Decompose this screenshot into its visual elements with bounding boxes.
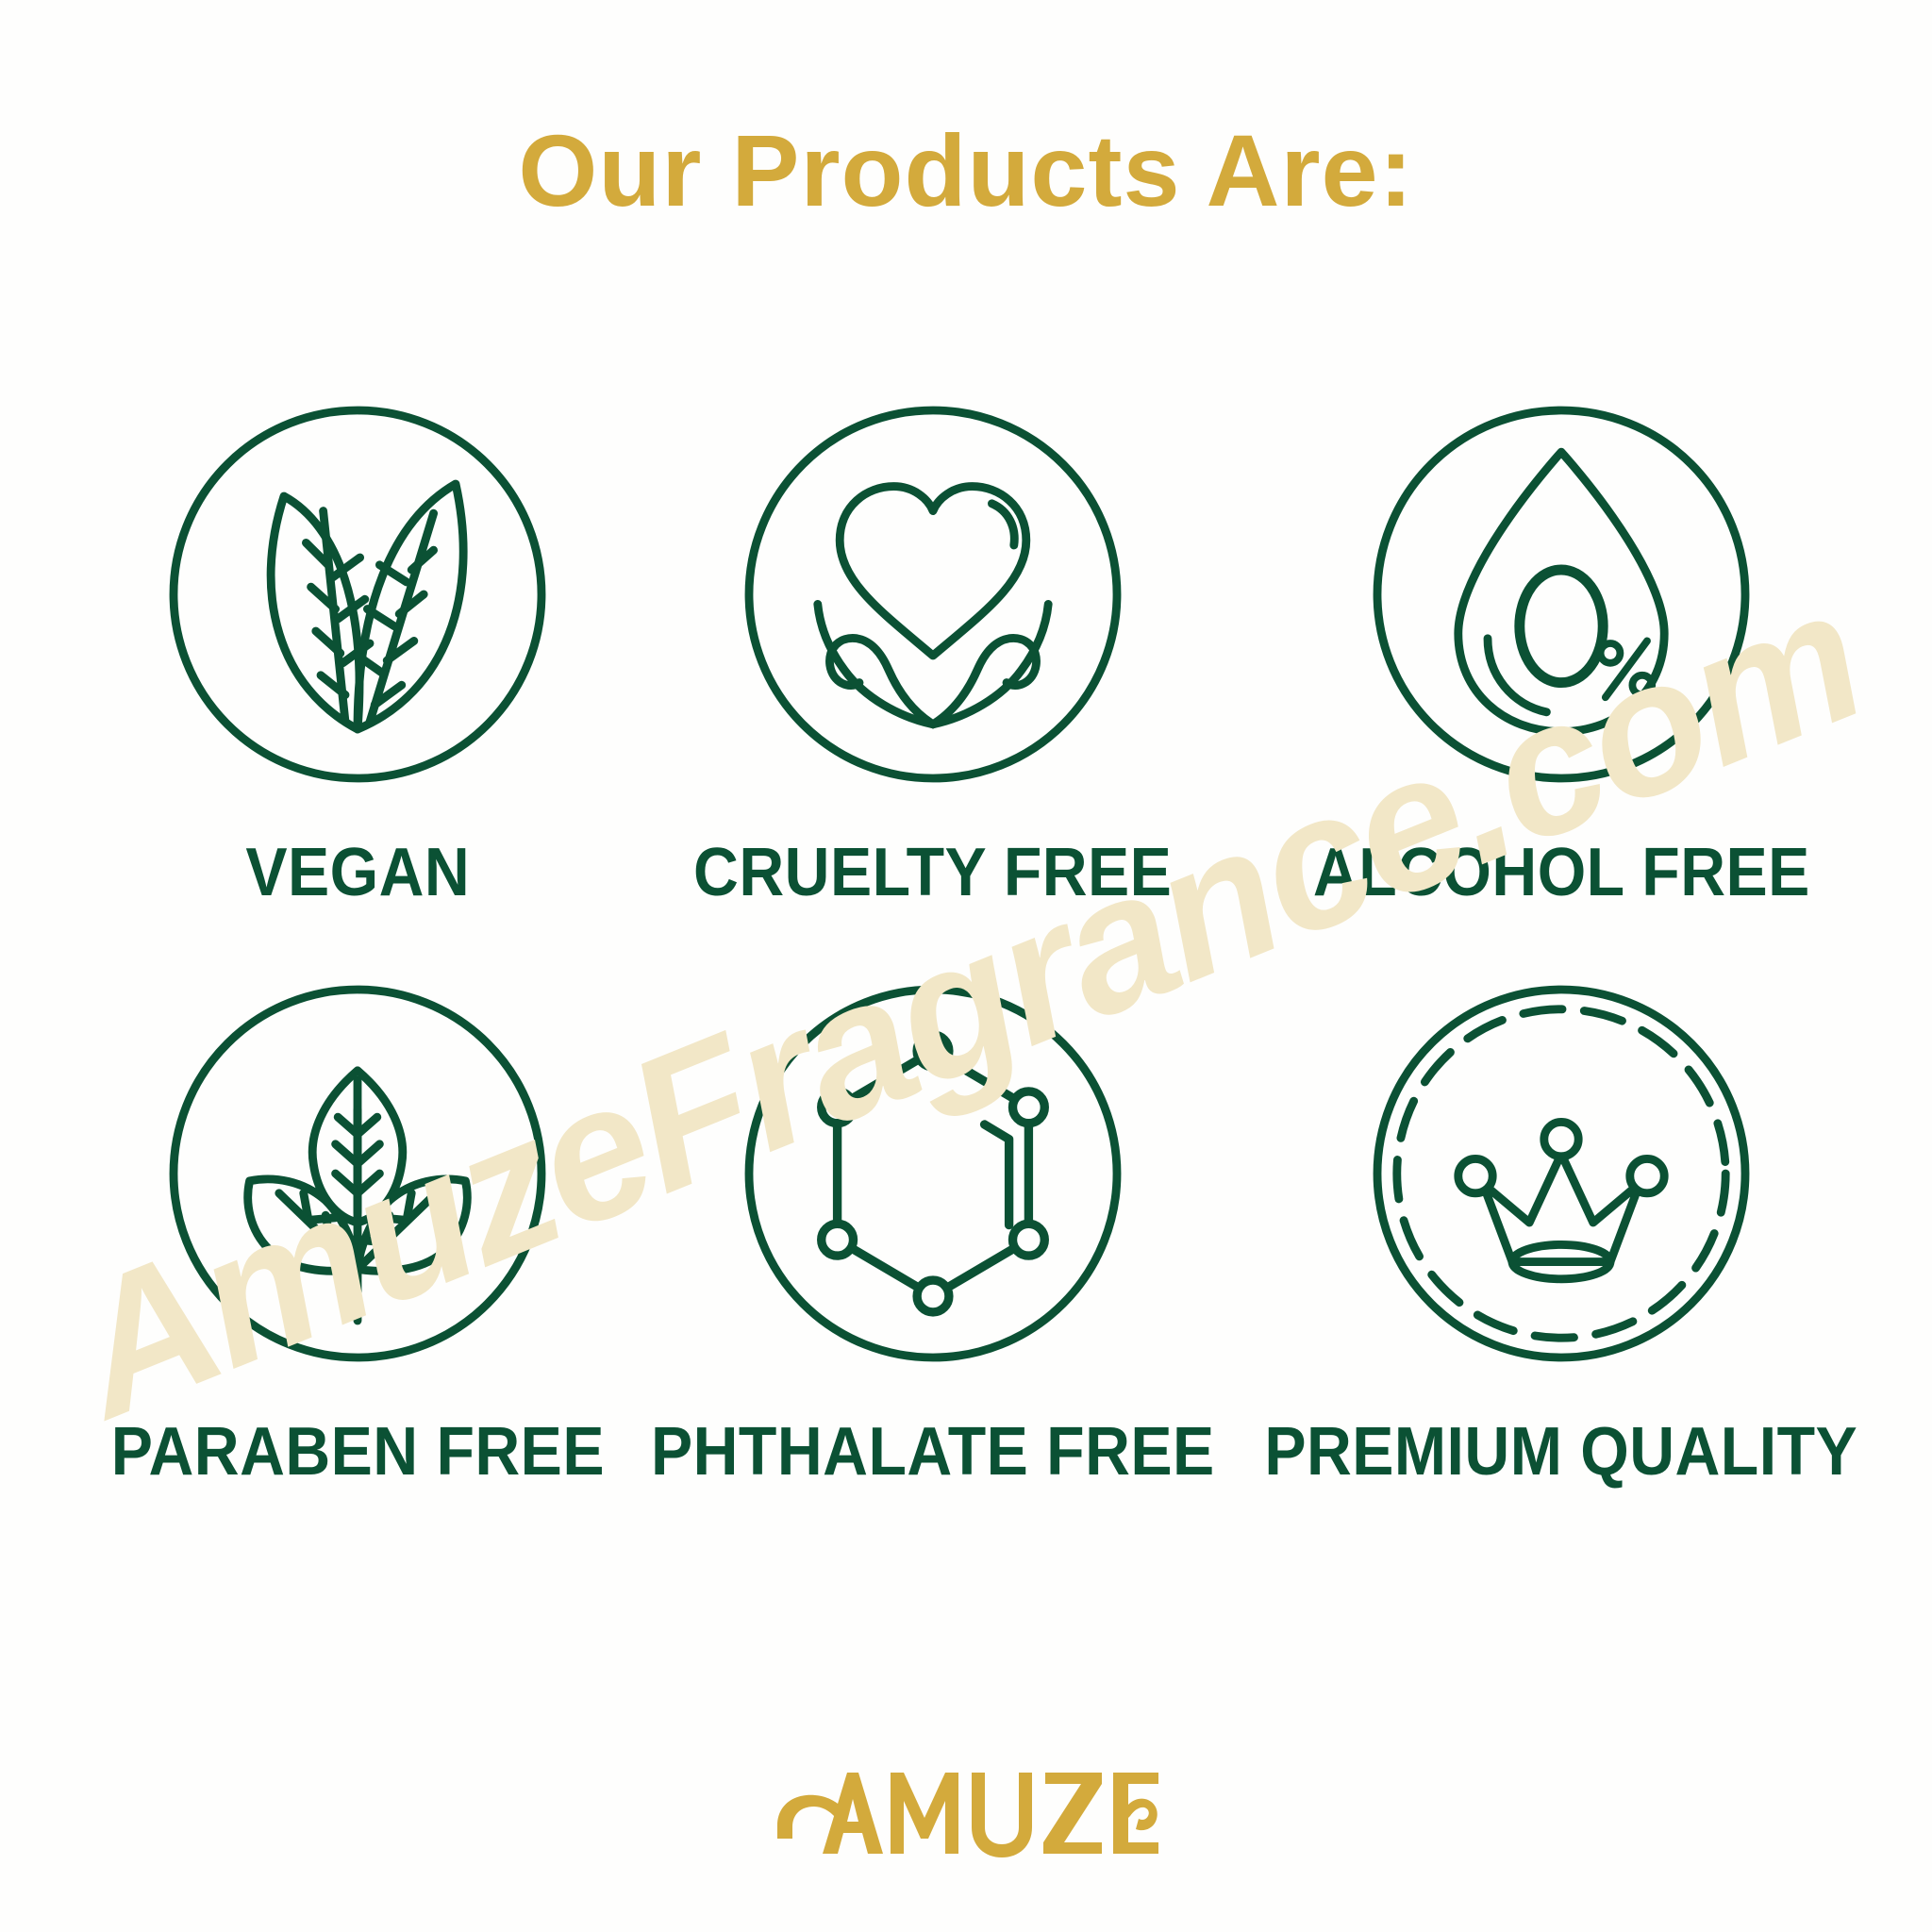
badge-label: PARABEN FREE xyxy=(111,1413,605,1491)
badge-label: PHTHALATE FREE xyxy=(651,1413,1215,1491)
brand-logo xyxy=(0,1759,1932,1877)
benzene-hexagon-icon xyxy=(688,928,1178,1419)
plant-sprig-icon xyxy=(112,928,603,1419)
badge-alcohol-free[interactable]: ALCOHOL FREE xyxy=(1239,349,1883,911)
badge-label: CRUELTY FREE xyxy=(693,834,1172,911)
crown-icon xyxy=(1316,928,1807,1419)
promo-graphic: Our Products Are: xyxy=(0,0,1932,1932)
heart-in-hands-icon xyxy=(688,349,1178,840)
badge-paraben-free[interactable]: PARABEN FREE xyxy=(90,928,626,1491)
badge-label: VEGAN xyxy=(245,834,470,911)
water-droplet-zero-percent-icon xyxy=(1316,349,1807,840)
badge-phthalate-free[interactable]: PHTHALATE FREE xyxy=(626,928,1240,1491)
badge-premium-quality[interactable]: PREMIUM QUALITY xyxy=(1239,928,1883,1491)
badge-label: PREMIUM QUALITY xyxy=(1265,1413,1858,1491)
benefits-grid: VEGAN CRUELTY FREE xyxy=(90,349,1844,1491)
badge-label: ALCOHOL FREE xyxy=(1313,834,1810,911)
amuze-wordmark-icon xyxy=(768,1759,1164,1873)
badge-vegan[interactable]: VEGAN xyxy=(90,349,626,911)
badge-cruelty-free[interactable]: CRUELTY FREE xyxy=(626,349,1240,911)
page-title: Our Products Are: xyxy=(0,111,1932,229)
two-leaves-icon xyxy=(112,349,603,840)
